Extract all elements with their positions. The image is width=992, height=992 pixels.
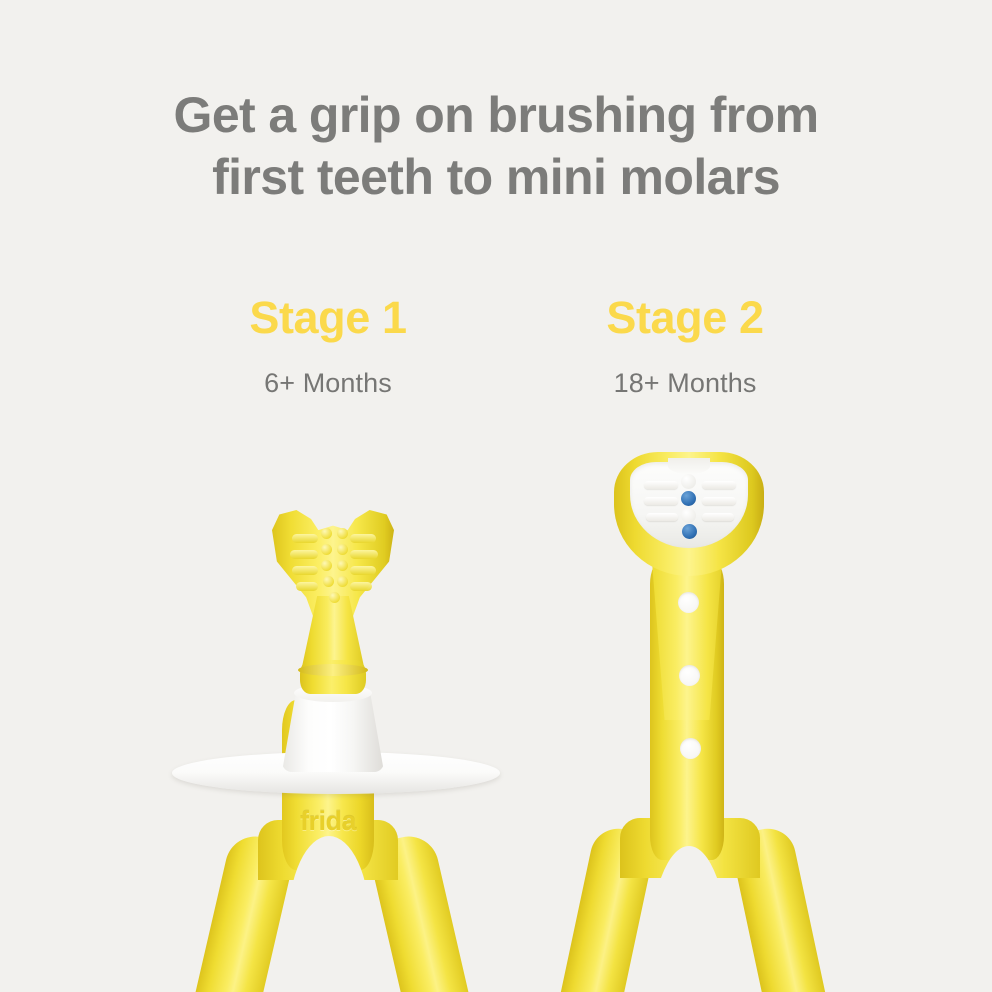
stage-1-nub <box>321 560 332 571</box>
stage-2-grip-hole <box>678 592 699 613</box>
stage-2-bristle-bar <box>702 497 736 505</box>
stage-2-bristle-bar <box>646 513 678 521</box>
stage-1-ridge <box>292 534 318 543</box>
stage-1-ridge <box>350 566 376 575</box>
stage-1-nub <box>321 544 332 555</box>
stage-2-grip-hole <box>679 665 700 686</box>
stage-1-nub <box>337 544 348 555</box>
stage-1-toothbrush-image: frida <box>0 0 992 992</box>
stage-1-nub <box>323 576 334 587</box>
stage-1-safety-cone <box>282 690 384 772</box>
stage-1-nub <box>337 576 348 587</box>
stage-2-bristle-tuft-accent <box>681 491 696 506</box>
stage-2-bristle-tuft <box>681 508 696 523</box>
stage-1-ridge <box>296 582 318 591</box>
stage-1-ridge <box>350 582 372 591</box>
stage-2-bristle-bar <box>644 497 678 505</box>
stage-2-bed-notch <box>668 458 710 474</box>
stage-1-nub <box>337 560 348 571</box>
stage-1-ridge <box>292 566 318 575</box>
stage-1-nub <box>337 528 348 539</box>
stage-1-nub <box>321 528 332 539</box>
stage-2-bristle-tuft <box>681 474 696 489</box>
product-comparison-image: Get a grip on brushing from first teeth … <box>0 0 992 992</box>
stage-1-nub <box>329 592 340 603</box>
stage-2-bristle-bar <box>702 481 736 489</box>
stage-2-grip-hole <box>680 738 701 759</box>
stage-1-ridge <box>290 550 318 559</box>
stage-1-ridge <box>350 550 378 559</box>
stage-1-collar-ring <box>298 664 368 676</box>
stage-2-bristle-bar <box>702 513 734 521</box>
stage-2-bristle-bar <box>644 481 678 489</box>
stage-1-ridge <box>350 534 376 543</box>
stage-2-bristle-tuft-accent <box>682 524 697 539</box>
frida-logo: frida <box>282 806 374 837</box>
